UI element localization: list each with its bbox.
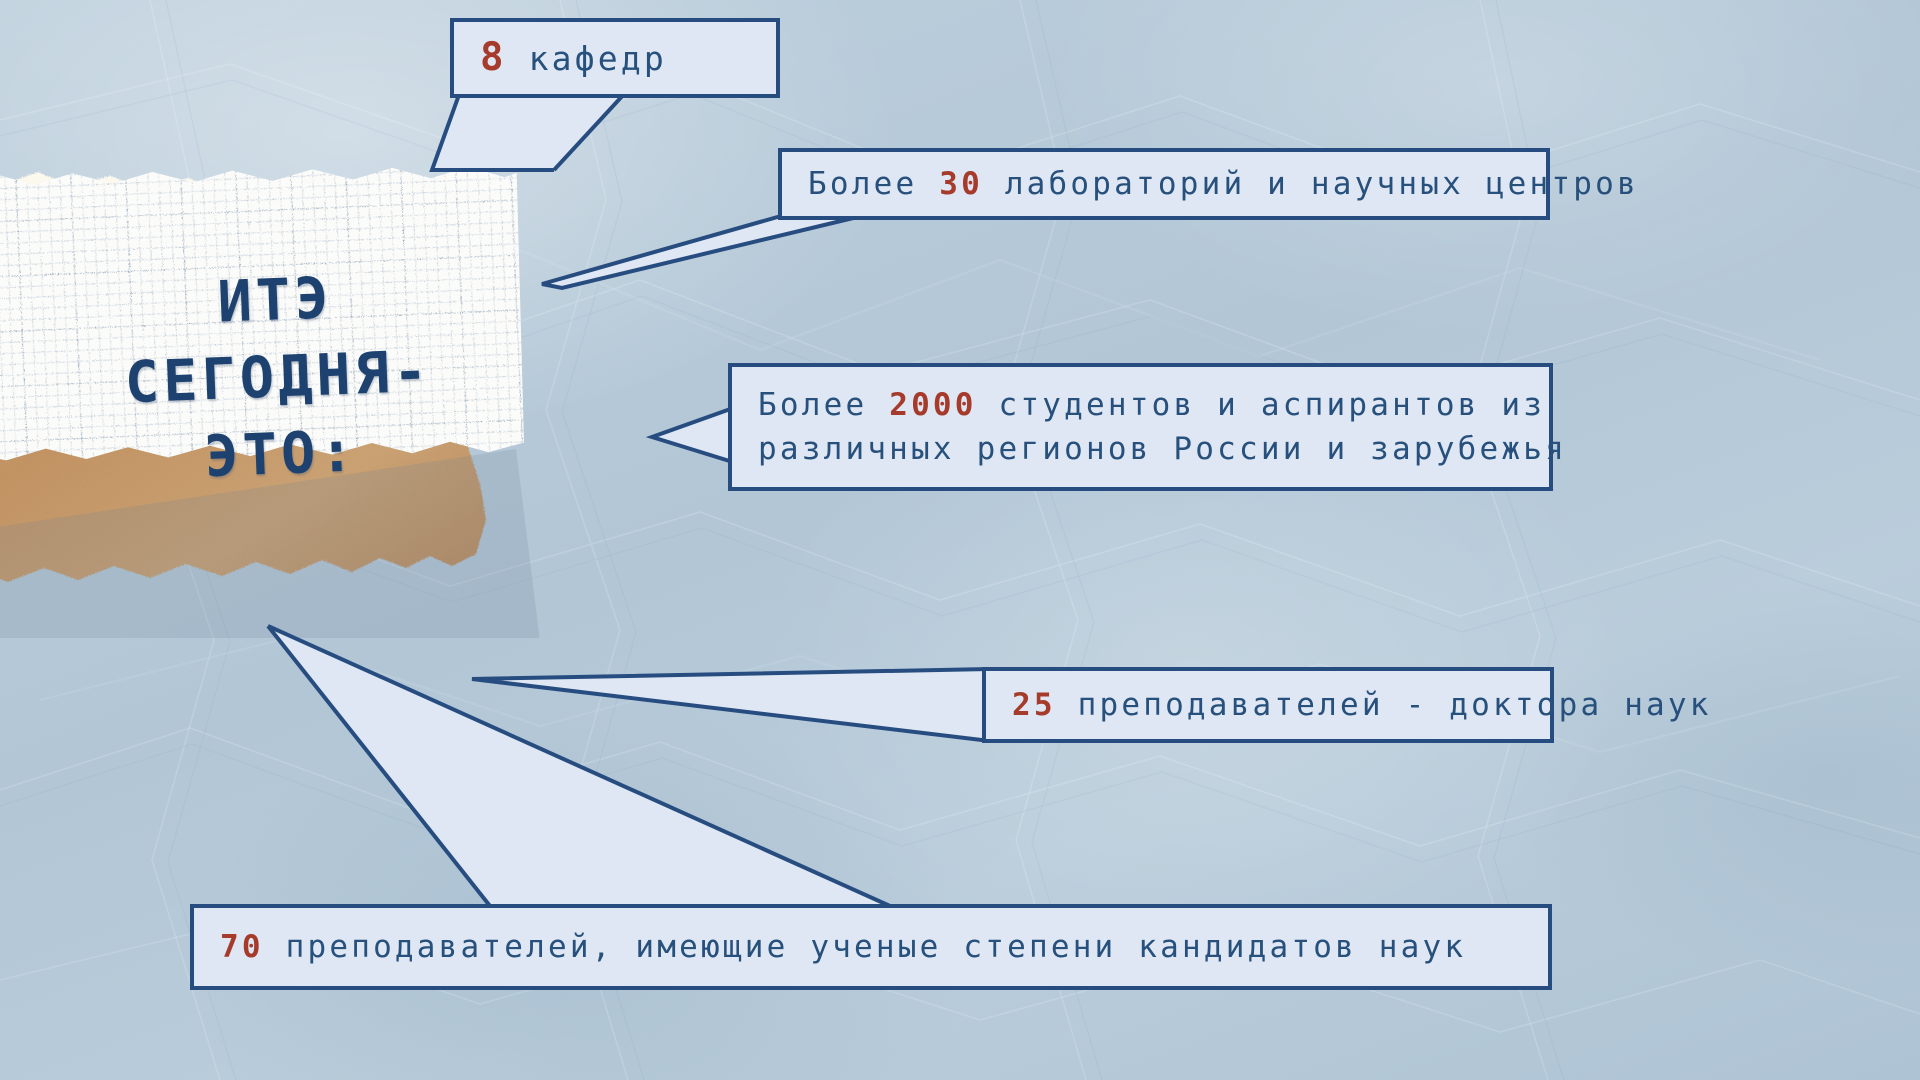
callout-label-laboratories: лабораторий и научных центров (1005, 166, 1639, 202)
callout-text-candidates: 70 преподавателей, имеющие ученые степен… (220, 925, 1522, 969)
callout-text-departments: 8 кафедр (480, 30, 750, 85)
torn-paper-collage (0, 168, 580, 638)
callout-box-students[interactable]: Более 2000 студентов и аспирантов из раз… (728, 363, 1553, 491)
callout-box-candidates[interactable]: 70 преподавателей, имеющие ученые степен… (190, 904, 1552, 990)
callout-label-departments: кафедр (529, 39, 667, 78)
callout-students[interactable]: Более 2000 студентов и аспирантов из раз… (650, 363, 1560, 503)
callout-prefix-laboratories: Более (808, 166, 917, 202)
callout-text-laboratories: Более 30 лабораторий и научных центров (808, 162, 1520, 206)
callout-number-laboratories: 30 (939, 166, 983, 202)
callout-laboratories[interactable]: Более 30 лабораторий и научных центров (540, 148, 1560, 308)
callout-candidates[interactable]: 70 преподавателей, имеющие ученые степен… (190, 620, 1560, 920)
callout-number-departments: 8 (480, 35, 505, 80)
callout-box-departments[interactable]: 8 кафедр (450, 18, 780, 98)
callout-label-students: студентов и аспирантов из (999, 387, 1546, 423)
callout-text-students-line1: Более 2000 студентов и аспирантов из (758, 383, 1523, 427)
callout-box-laboratories[interactable]: Более 30 лабораторий и научных центров (778, 148, 1550, 220)
callout-number-candidates: 70 (220, 929, 264, 965)
callout-tail-candidates (190, 620, 1560, 920)
callout-number-students: 2000 (889, 387, 976, 423)
callout-prefix-students: Более (758, 387, 867, 423)
callout-text-students-line2: различных регионов России и зарубежья (758, 427, 1523, 471)
callout-label-candidates: преподавателей, имеющие ученые степени к… (286, 929, 1467, 965)
